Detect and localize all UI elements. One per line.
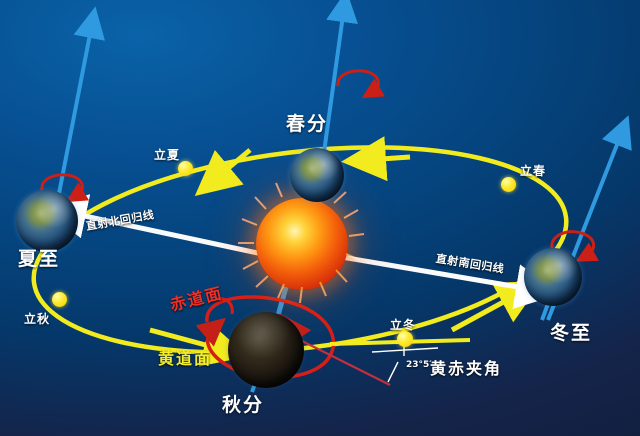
orbit-diagram: 夏至 春分 冬至 秋分 立夏 立春 立秋 立冬 直射北回归线 直射南回归线 赤道… <box>0 0 640 436</box>
sun-corona-spikes <box>0 0 640 436</box>
earth-winter-solstice <box>524 248 582 306</box>
node-dot-start-of-summer <box>178 161 193 176</box>
node-dot-start-of-winter <box>397 331 413 347</box>
node-dot-start-of-spring <box>501 177 516 192</box>
earth-summer-solstice <box>16 190 78 252</box>
earth-autumnal-equinox <box>228 312 304 388</box>
node-dot-start-of-autumn <box>52 292 67 307</box>
earth-vernal-equinox <box>290 148 344 202</box>
